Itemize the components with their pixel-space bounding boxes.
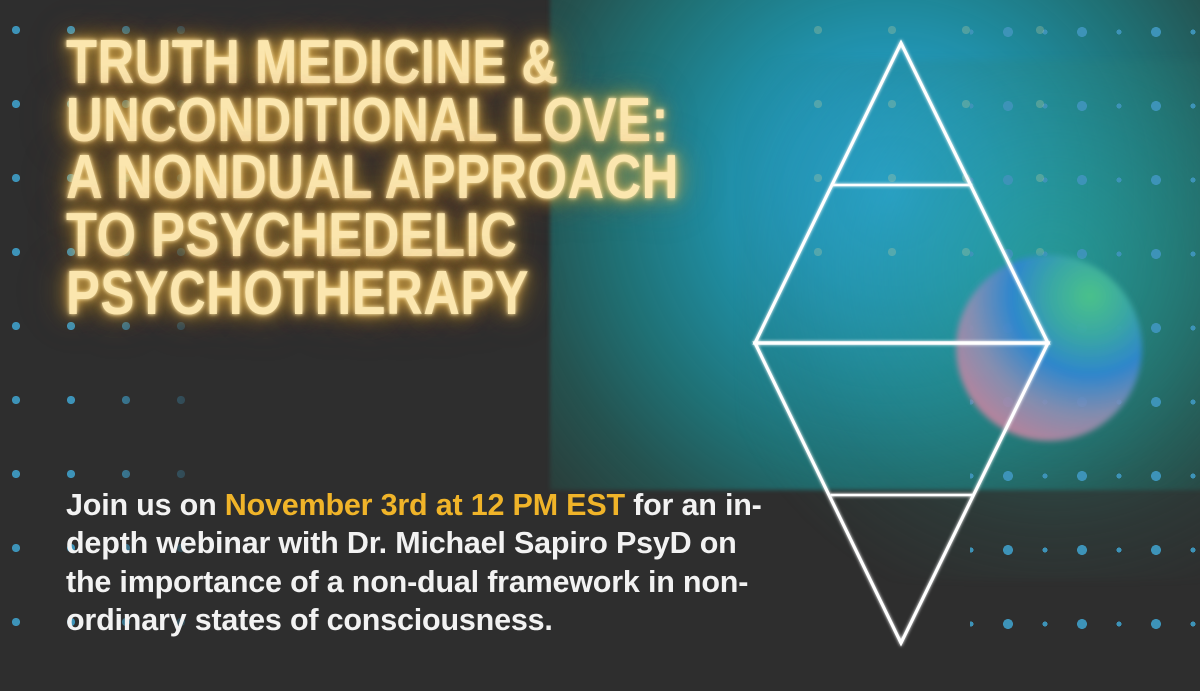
headline-line-2: Unconditional Love:: [66, 92, 574, 150]
headline: Truth Medicine & Unconditional Love: A N…: [66, 34, 686, 322]
headline-line-3: A Nondual Approach: [66, 149, 574, 207]
poster-canvas: Truth Medicine & Unconditional Love: A N…: [0, 0, 1200, 691]
headline-line-1: Truth Medicine &: [66, 34, 574, 92]
event-description: Join us on November 3rd at 12 PM EST for…: [66, 486, 766, 639]
body-text-before: Join us on: [66, 488, 225, 522]
headline-line-5: Psychotherapy: [66, 265, 574, 323]
event-datetime-highlight: November 3rd at 12 PM EST: [225, 488, 625, 522]
headline-line-4: to Psychedelic: [66, 207, 574, 265]
dot-grid-top-middle: [790, 0, 1050, 300]
